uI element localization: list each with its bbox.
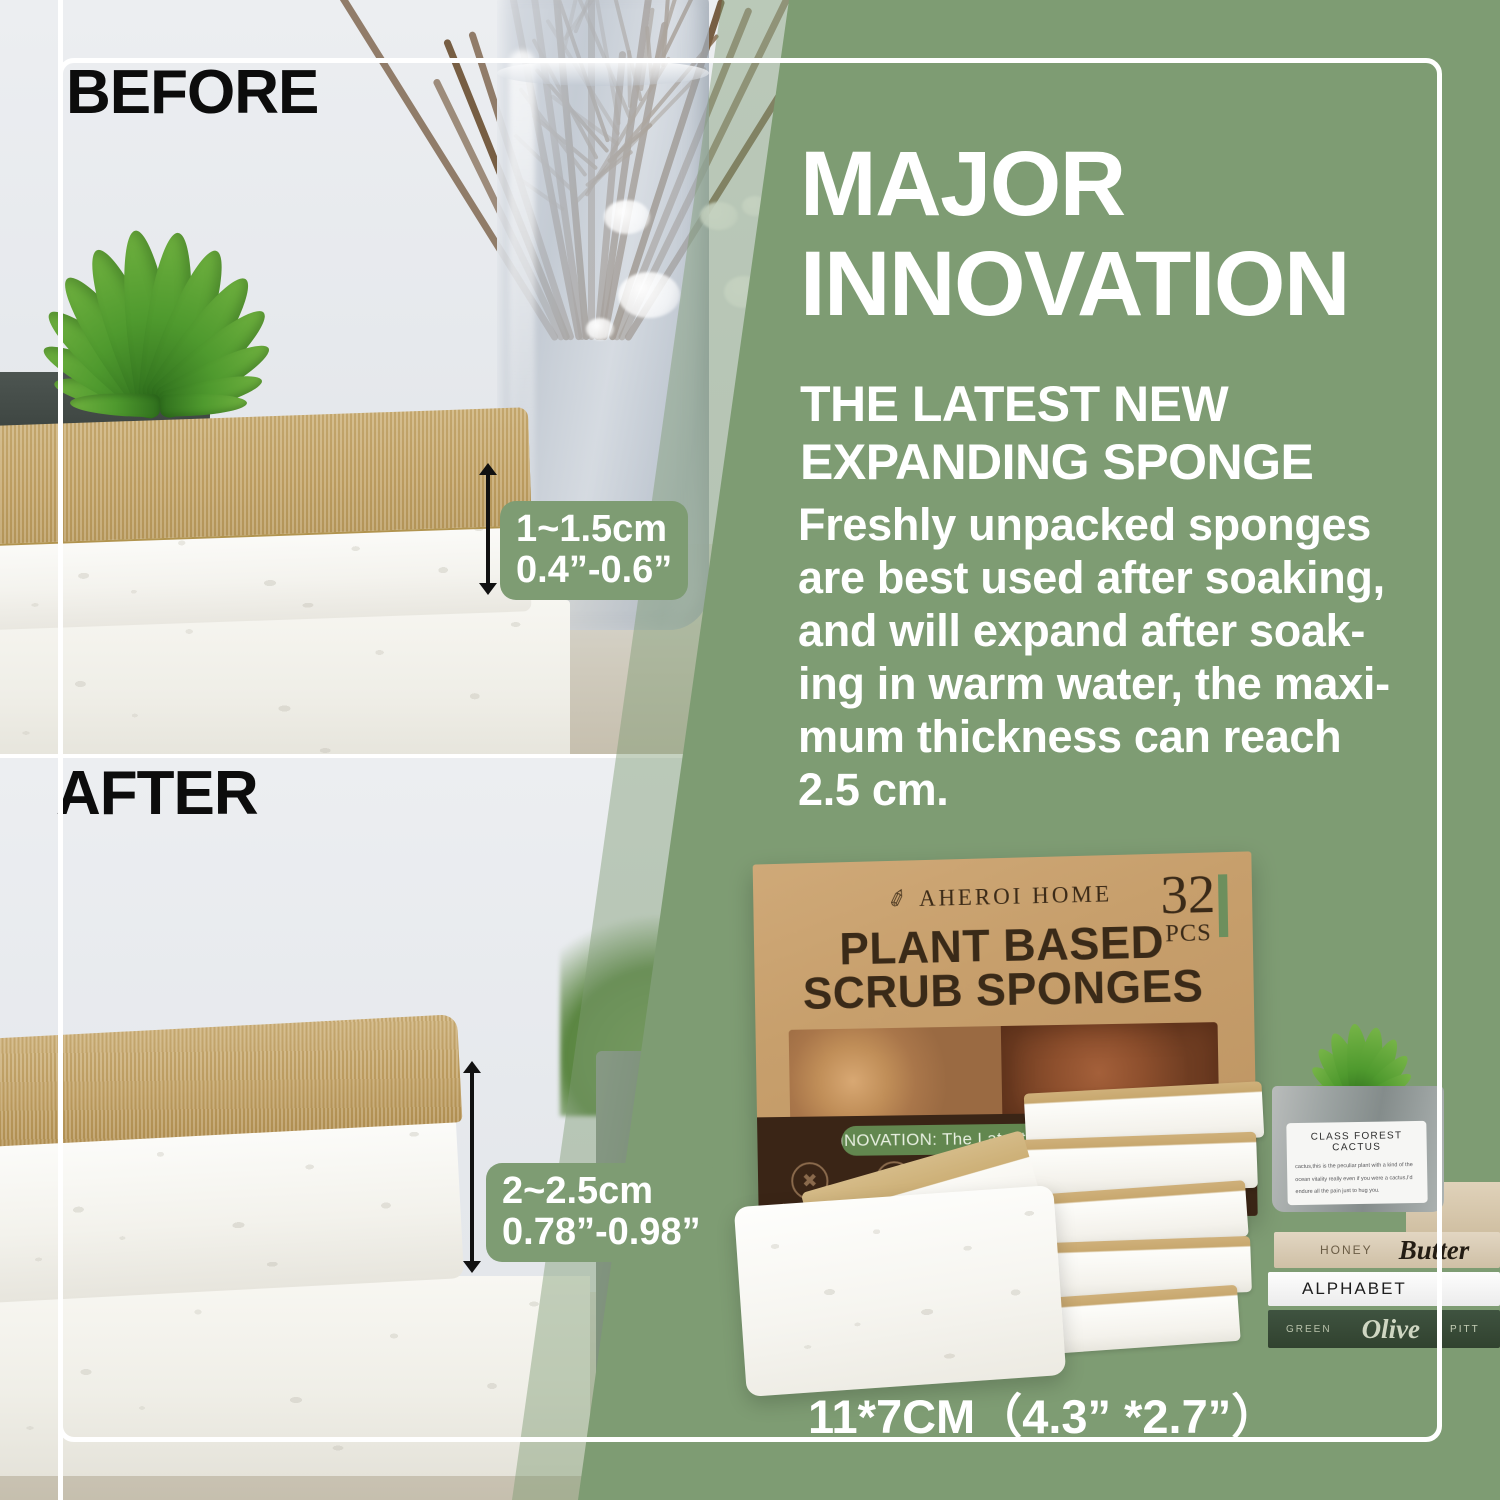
before-thickness-arrow — [486, 474, 490, 584]
body-line-5: mum thickness can reach — [798, 710, 1398, 763]
before-sponge-scrub-layer — [0, 407, 532, 547]
book-big-text: Butter — [1399, 1235, 1470, 1266]
before-imperial: 0.4”-0.6” — [516, 550, 672, 591]
succulent-plant — [0, 186, 360, 406]
book-small-text: ALPHABET — [1302, 1279, 1407, 1299]
body-line-6: 2.5 cm. — [798, 763, 1398, 816]
leaf-icon: ✐ — [885, 884, 914, 916]
wood-logs-photo — [789, 1026, 1003, 1125]
foreground-sponge — [734, 1185, 1066, 1397]
body-line-1: Freshly unpacked sponges — [798, 498, 1398, 551]
body-paragraph: Freshly unpacked spongesare best used af… — [798, 498, 1398, 817]
after-measurement-badge: 2~2.5cm 0.78”-0.98” — [486, 1163, 717, 1262]
book-spine: GREEN Olive PITT — [1268, 1310, 1500, 1348]
frame-vertical-rule — [58, 0, 63, 1500]
headline-line1: MAJOR — [800, 140, 1125, 228]
body-line-2: are best used after soaking, — [798, 551, 1398, 604]
bokeh-circle — [604, 200, 650, 234]
before-label: BEFORE — [66, 62, 318, 124]
after-thickness-arrow — [470, 1072, 474, 1262]
after-label: AFTER — [56, 763, 258, 825]
body-line-4: ing in warm water, the maxi- — [798, 657, 1398, 710]
body-line-3: and will expand after soak- — [798, 604, 1398, 657]
before-metric: 1~1.5cm — [516, 509, 672, 550]
box-brand-name: AHEROI HOME — [919, 881, 1113, 911]
box-title-line2: SCRUB SPONGES — [754, 959, 1254, 1021]
after-sponge-base — [0, 1276, 590, 1476]
after-metric: 2~2.5cm — [502, 1171, 701, 1212]
book-big-text: Olive — [1362, 1314, 1420, 1345]
subheadline-line2: EXPANDING SPONGE — [800, 436, 1313, 489]
bokeh-circle — [586, 318, 614, 340]
product-infographic: CLASS FOREST CACTUS cactus,this is the p… — [0, 0, 1500, 1500]
candle-label-title: CLASS FOREST CACTUS — [1294, 1130, 1418, 1154]
glass-vase-rim — [497, 60, 709, 86]
subheadline-line1: THE LATEST NEW — [800, 378, 1228, 431]
book-spine: ALPHABET — [1268, 1272, 1500, 1306]
book-spine: HONEY Butter — [1274, 1232, 1500, 1268]
after-imperial: 0.78”-0.98” — [502, 1212, 701, 1253]
book-small-text: HONEY — [1320, 1243, 1373, 1257]
before-measurement-badge: 1~1.5cm 0.4”-0.6” — [500, 501, 688, 600]
bokeh-circle — [618, 272, 680, 318]
book-tail-text: PITT — [1450, 1324, 1480, 1335]
headline-line2: INNOVATION — [800, 240, 1349, 328]
candle-label: CLASS FOREST CACTUS cactus,this is the p… — [1286, 1121, 1427, 1205]
product-dimensions-text: 11*7CM（4.3” *2.7”） — [808, 1378, 1278, 1447]
candle-label-body: cactus,this is the peculiar plant with a… — [1295, 1159, 1420, 1199]
book-small-text: GREEN — [1286, 1324, 1332, 1335]
